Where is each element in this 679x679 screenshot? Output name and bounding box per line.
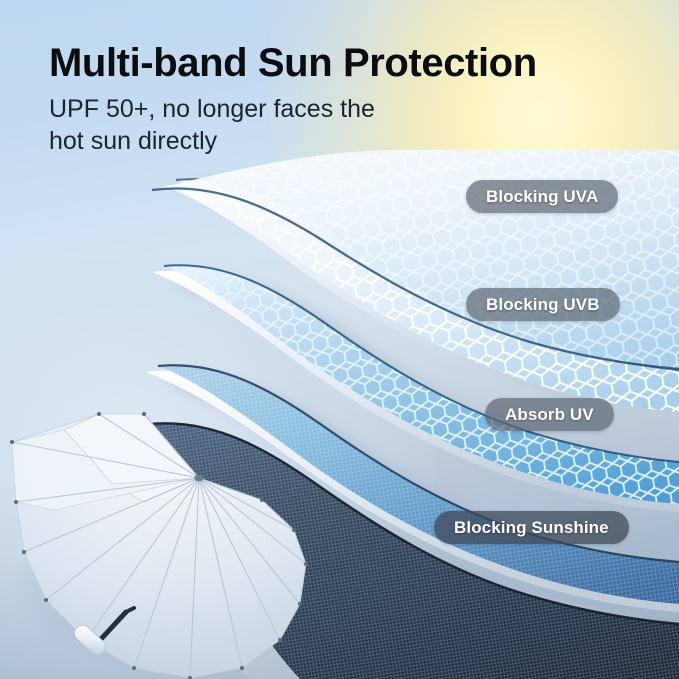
subtitle-line-1: UPF 50+, no longer faces the [49,95,375,123]
headline-block: Multi-band Sun Protection UPF 50+, no lo… [49,42,649,157]
page-title: Multi-band Sun Protection [49,42,649,85]
subtitle: UPF 50+, no longer faces the hot sun dir… [49,94,449,157]
umbrella-svg [0,392,324,679]
umbrella-hub [194,475,203,482]
product-infographic: Multi-band Sun Protection UPF 50+, no lo… [0,0,679,679]
label-blocking-uvb: Blocking UVB [466,288,620,321]
label-blocking-uva: Blocking UVA [466,180,618,213]
label-blocking-sunshine: Blocking Sunshine [434,511,629,544]
product-umbrella [0,392,324,679]
label-absorb-uv: Absorb UV [485,398,614,431]
subtitle-line-2: hot sun directly [49,126,449,158]
